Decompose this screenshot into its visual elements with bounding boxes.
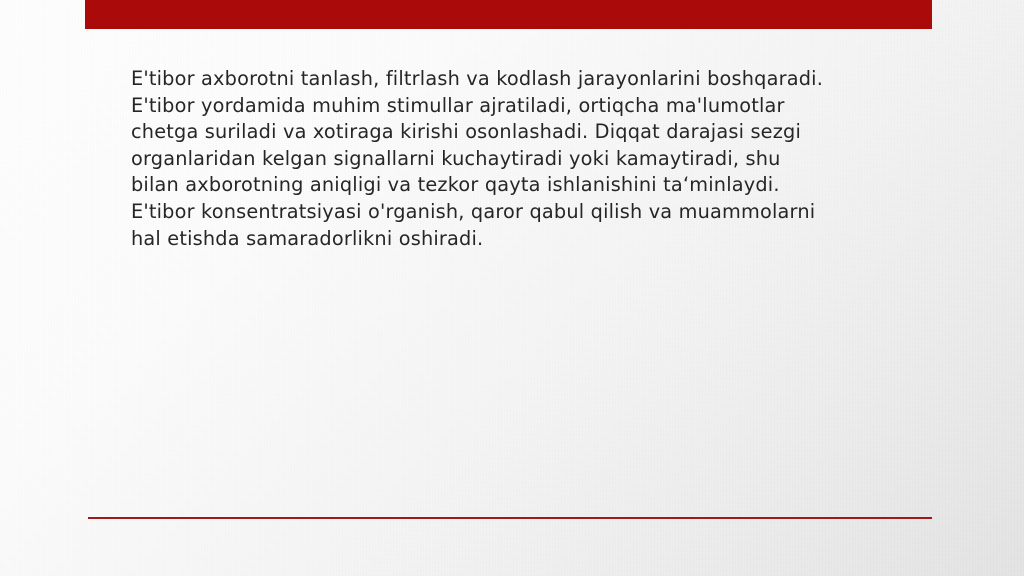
bottom-red-rule <box>88 517 932 519</box>
presentation-slide: E'tibor axborotni tanlash, filtrlash va … <box>0 0 1024 576</box>
slide-title <box>131 33 891 67</box>
top-red-banner <box>85 0 932 29</box>
slide-body-text: E'tibor axborotni tanlash, filtrlash va … <box>131 66 831 252</box>
